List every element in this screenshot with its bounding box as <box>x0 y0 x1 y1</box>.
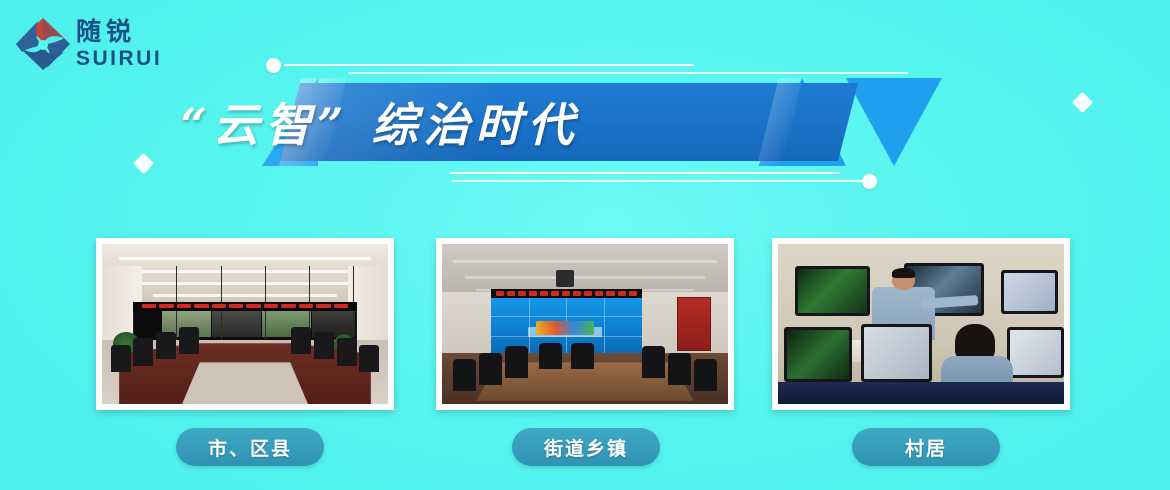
decorative-line-bottom-1 <box>450 172 840 174</box>
label-village-residence[interactable]: 村居 <box>852 428 1000 466</box>
decorative-diamond-right <box>1072 92 1093 113</box>
banner-right-down-triangle-icon <box>846 78 942 166</box>
photo-card-city-district[interactable] <box>96 238 394 410</box>
label-street-township[interactable]: 街道乡镇 <box>512 428 660 466</box>
decorative-line-bottom-2 <box>452 180 872 182</box>
desk-monitor-center <box>861 324 933 382</box>
photo-officer-surveillance-monitors <box>778 244 1064 404</box>
red-door <box>677 297 711 351</box>
desk-monitor-right <box>1007 327 1064 378</box>
wall-monitor-right <box>1001 270 1058 315</box>
photo-meeting-room-lcd-wall <box>442 244 728 404</box>
decorative-line-top-1 <box>284 64 694 66</box>
label-city-district[interactable]: 市、区县 <box>176 428 324 466</box>
brand-name-en: SUIRUI <box>76 47 162 71</box>
photo-card-street-township[interactable] <box>436 238 734 410</box>
wall-monitor-left <box>795 266 869 316</box>
decorative-dot-bottom-right <box>862 174 877 189</box>
slide-canvas: 随锐 SUIRUI “云智” 综治时代 <box>0 0 1170 490</box>
suirui-pinwheel-logo-icon <box>14 16 72 72</box>
desk-monitor-left <box>784 327 853 381</box>
page-title: “云智” 综治时代 <box>80 82 680 162</box>
brand-name-cn: 随锐 <box>76 17 136 47</box>
photo-card-village-residence[interactable] <box>772 238 1070 410</box>
brand-logo: 随锐 SUIRUI <box>14 14 159 74</box>
decorative-line-top-2 <box>348 72 908 74</box>
photo-card-row <box>0 238 1170 418</box>
photo-command-center-conference-room <box>102 244 388 404</box>
decorative-dot-top-left <box>266 58 281 73</box>
